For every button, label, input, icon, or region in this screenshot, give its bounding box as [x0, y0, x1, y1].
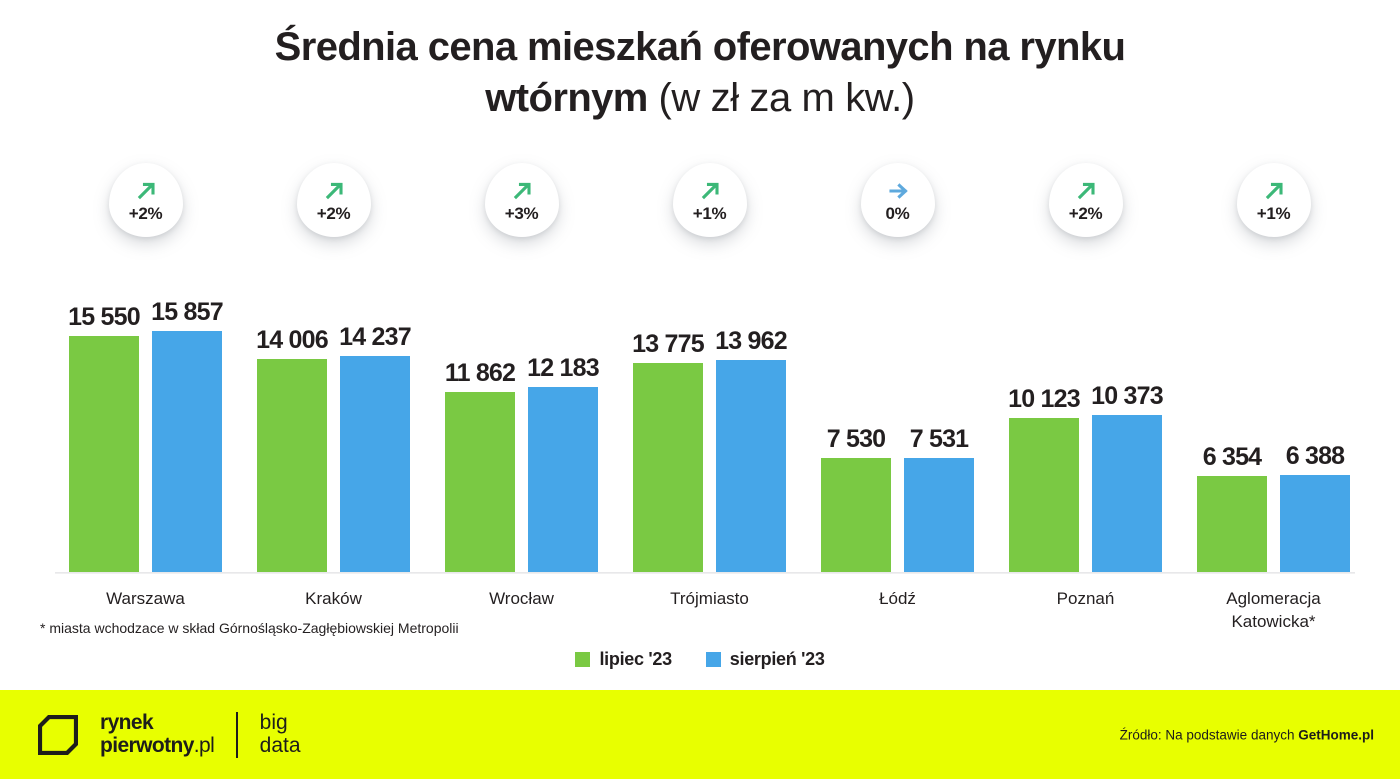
bar-lipiec: 13 775	[633, 363, 703, 572]
bar-chart: +2%15 55015 857Warszawa+2%14 00614 237Kr…	[0, 0, 1400, 690]
bar-sierpien: 7 531	[904, 458, 974, 572]
badge-content: +3%	[485, 163, 559, 237]
bar-sierpien: 15 857	[152, 331, 222, 572]
bar-value-label: 11 862	[445, 361, 515, 386]
bigdata-line-1: big	[260, 711, 288, 734]
change-badge: +1%	[673, 163, 747, 255]
badge-percent-label: +2%	[1069, 205, 1103, 222]
arrow-up-right-icon	[1261, 179, 1287, 203]
badge-percent-label: +1%	[1257, 205, 1291, 222]
bigdata-line-2: data	[260, 734, 301, 757]
category-label: AglomeracjaKatowicka*	[1183, 588, 1364, 634]
bigdata-wordmark: big data	[260, 712, 301, 756]
category-label: Kraków	[243, 588, 424, 611]
bar-lipiec: 11 862	[445, 392, 515, 572]
source-prefix: Źródło: Na podstawie danych	[1120, 727, 1299, 742]
bar-group: +1%13 77513 962Trójmiasto	[619, 0, 800, 690]
bar-pair: 11 86212 183	[431, 272, 612, 572]
change-badge: +3%	[485, 163, 559, 255]
brand-tld: .pl	[194, 734, 214, 757]
badge-percent-label: +2%	[129, 205, 163, 222]
legend-swatch-blue	[706, 652, 721, 667]
bar-group: +2%10 12310 373Poznań	[995, 0, 1176, 690]
bar-value-label: 15 857	[151, 300, 223, 325]
arrow-up-right-icon	[133, 179, 159, 203]
bar-lipiec: 14 006	[257, 359, 327, 572]
legend-label: lipiec '23	[599, 649, 671, 670]
brand-logo[interactable]: rynek pierwotny.pl big data	[38, 712, 301, 758]
bar-pair: 13 77513 962	[619, 272, 800, 572]
bar-value-label: 13 775	[632, 332, 704, 357]
category-label: Wrocław	[431, 588, 612, 611]
bar-lipiec: 7 530	[821, 458, 891, 572]
bar-group: 0%7 5307 531Łódź	[807, 0, 988, 690]
bar-value-label: 12 183	[527, 356, 599, 381]
bar-value-label: 6 354	[1203, 445, 1262, 470]
badge-percent-label: +2%	[317, 205, 351, 222]
arrow-right-icon	[885, 179, 911, 203]
legend-label: sierpień '23	[730, 649, 825, 670]
bar-pair: 15 55015 857	[55, 272, 236, 572]
arrow-up-right-icon	[697, 179, 723, 203]
badge-content: +1%	[1237, 163, 1311, 237]
bar-value-label: 14 006	[256, 328, 328, 353]
footnote: * miasta wchodzace w skład Górnośląsko-Z…	[40, 620, 459, 636]
bar-sierpien: 13 962	[716, 360, 786, 572]
chart-legend: lipiec '23sierpień '23	[0, 649, 1400, 670]
bar-pair: 14 00614 237	[243, 272, 424, 572]
legend-item[interactable]: sierpień '23	[706, 649, 825, 670]
badge-content: +2%	[297, 163, 371, 237]
bar-sierpien: 10 373	[1092, 415, 1162, 573]
brand-wordmark: rynek pierwotny.pl	[100, 712, 214, 756]
bar-value-label: 13 962	[715, 329, 787, 354]
badge-content: +2%	[1049, 163, 1123, 237]
badge-content: +1%	[673, 163, 747, 237]
bar-value-label: 10 123	[1008, 387, 1080, 412]
bar-value-label: 7 531	[910, 427, 969, 452]
bar-lipiec: 15 550	[69, 336, 139, 572]
change-badge: +2%	[1049, 163, 1123, 255]
bar-value-label: 14 237	[339, 325, 411, 350]
brand-line-1: rynek	[100, 711, 153, 734]
category-label: Trójmiasto	[619, 588, 800, 611]
category-label: Łódź	[807, 588, 988, 611]
change-badge: +2%	[297, 163, 371, 255]
infographic-page: Średnia cena mieszkań oferowanych na ryn…	[0, 0, 1400, 779]
bar-group: +2%15 55015 857Warszawa	[55, 0, 236, 690]
chamfered-square-icon	[38, 715, 78, 755]
bar-pair: 10 12310 373	[995, 272, 1176, 572]
brand-line-2: pierwotny	[100, 734, 194, 757]
badge-percent-label: +1%	[693, 205, 727, 222]
change-badge: 0%	[861, 163, 935, 255]
bar-group: +1%6 3546 388AglomeracjaKatowicka*	[1183, 0, 1364, 690]
legend-swatch-green	[575, 652, 590, 667]
bar-sierpien: 12 183	[528, 387, 598, 572]
change-badge: +2%	[109, 163, 183, 255]
change-badge: +1%	[1237, 163, 1311, 255]
bar-lipiec: 6 354	[1197, 476, 1267, 573]
bar-value-label: 10 373	[1091, 384, 1163, 409]
category-label: Poznań	[995, 588, 1176, 611]
badge-percent-label: 0%	[886, 205, 910, 222]
bar-value-label: 6 388	[1286, 444, 1345, 469]
bar-group: +3%11 86212 183Wrocław	[431, 0, 612, 690]
badge-content: 0%	[861, 163, 935, 237]
arrow-up-right-icon	[1073, 179, 1099, 203]
source-brand: GetHome.pl	[1298, 727, 1374, 742]
badge-content: +2%	[109, 163, 183, 237]
source-credit: Źródło: Na podstawie danych GetHome.pl	[1120, 727, 1374, 742]
bar-sierpien: 6 388	[1280, 475, 1350, 572]
badge-percent-label: +3%	[505, 205, 539, 222]
bar-value-label: 7 530	[827, 427, 886, 452]
bar-pair: 7 5307 531	[807, 272, 988, 572]
footer-bar: rynek pierwotny.pl big data Źródło: Na p…	[0, 690, 1400, 779]
arrow-up-right-icon	[321, 179, 347, 203]
category-label: Warszawa	[55, 588, 236, 611]
bar-pair: 6 3546 388	[1183, 272, 1364, 572]
legend-item[interactable]: lipiec '23	[575, 649, 671, 670]
bar-group: +2%14 00614 237Kraków	[243, 0, 424, 690]
bar-value-label: 15 550	[68, 305, 140, 330]
arrow-up-right-icon	[509, 179, 535, 203]
bar-lipiec: 10 123	[1009, 418, 1079, 572]
logo-divider	[236, 712, 238, 758]
bar-sierpien: 14 237	[340, 356, 410, 572]
